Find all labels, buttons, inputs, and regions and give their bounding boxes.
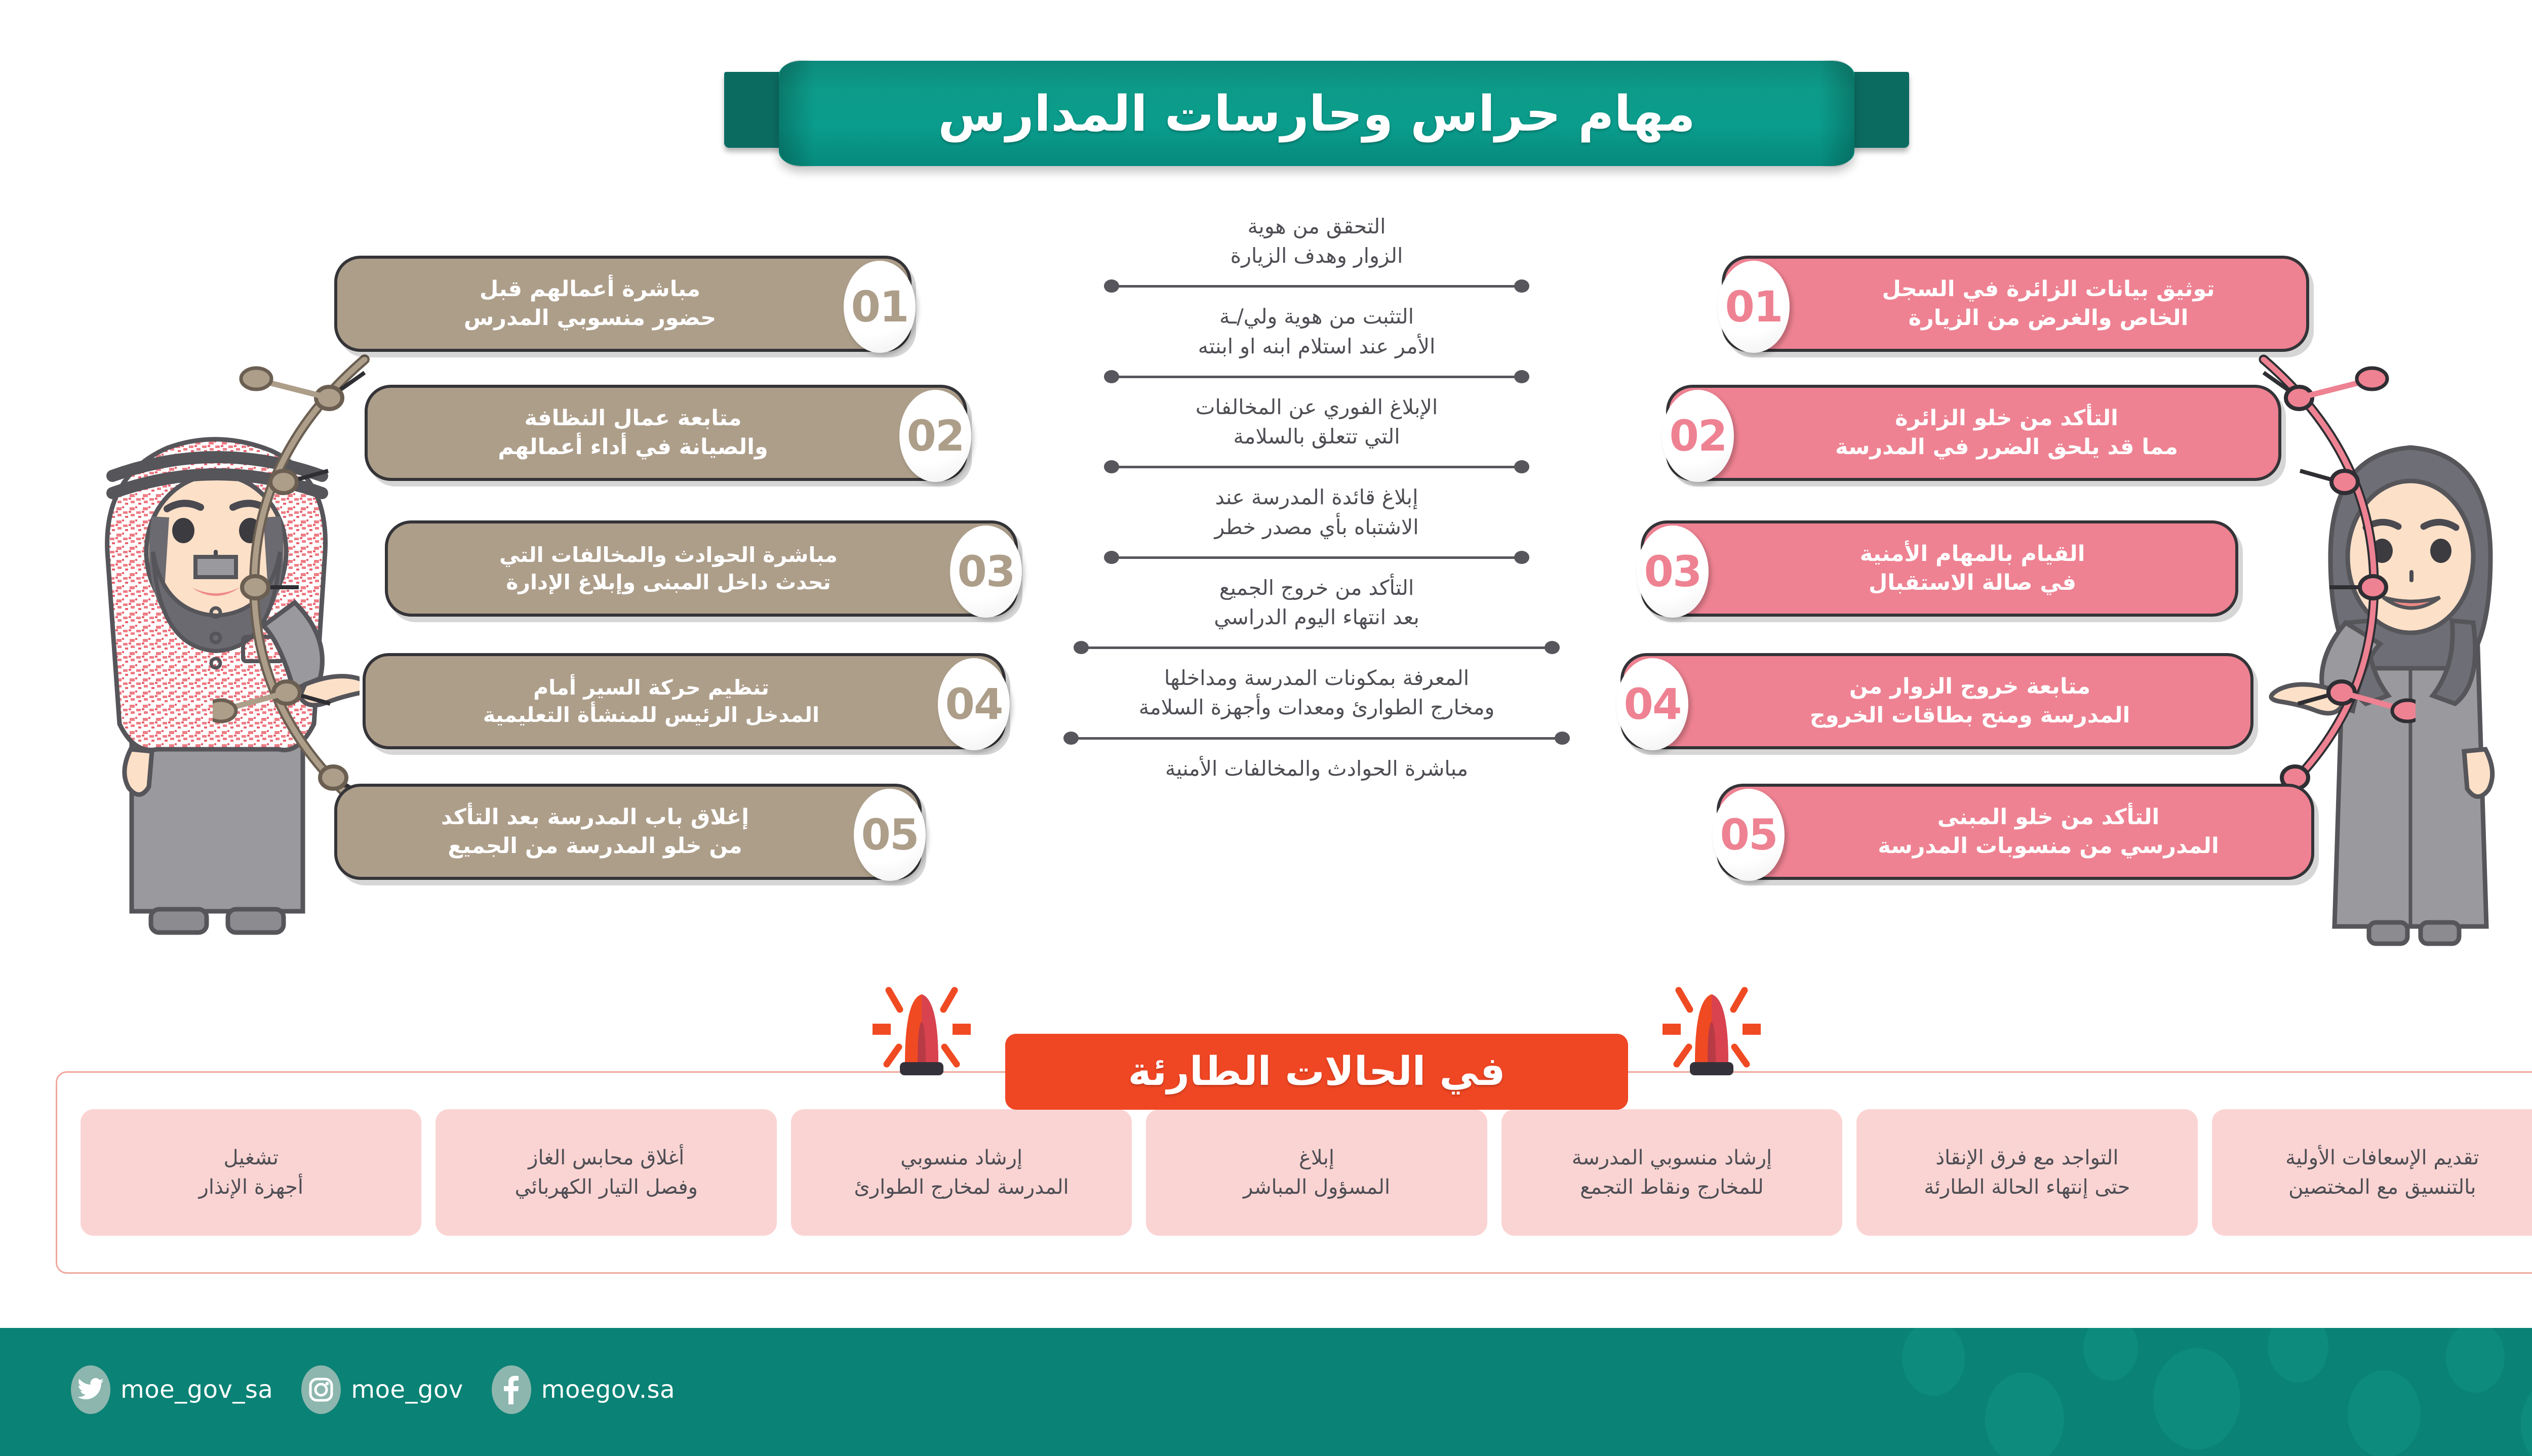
ribbon-body: مهام حراس وحارسات المدارس xyxy=(779,61,1854,166)
left-task-4-text: تنظيم حركة السير أمام المدخل الرئيس للمن… xyxy=(366,674,937,729)
right-task-4[interactable]: 04 متابعة خروج الزوار من المدرسة ومنح بط… xyxy=(1620,653,2253,749)
social-links: moegov.sa moe_gov moe_gov_sa xyxy=(71,1365,675,1414)
center-task-3: الإبلاغ الفوري عن المخالفات التي تتعلق ب… xyxy=(1033,388,1600,456)
center-task-6: المعرفة بمكونات المدرسة ومداخلها ومخارج … xyxy=(1033,659,1600,727)
center-task-1: التحقق من هوية الزوار وهدف الزيارة xyxy=(1033,208,1600,275)
left-task-5[interactable]: 05 إغلاق باب المدرسة بعد التأكد من خلو ا… xyxy=(334,784,922,880)
siren-light-icon-right xyxy=(1658,981,1765,1077)
left-task-2-number: 02 xyxy=(899,390,971,482)
left-task-2[interactable]: 02 متابعة عمال النظافة والصيانة في أداء … xyxy=(365,385,967,481)
facebook-icon xyxy=(492,1365,531,1414)
center-divider-5 xyxy=(1074,645,1560,650)
left-task-3[interactable]: 03 مباشرة الحوادث والمخالفات التي تحدث د… xyxy=(385,520,1018,617)
right-task-3-text: القيام بالمهام الأمنية في صالة الاستقبال xyxy=(1710,540,2235,597)
social-link-instagram[interactable]: moe_gov xyxy=(301,1365,463,1414)
right-task-5[interactable]: 05 التأكد من خلو المبنى المدرسي من منسوب… xyxy=(1717,784,2314,880)
left-task-4-number: 04 xyxy=(938,658,1010,750)
right-task-4-text: متابعة خروج الزوار من المدرسة ومنح بطاقا… xyxy=(1689,672,2250,730)
page-title: مهام حراس وحارسات المدارس xyxy=(938,85,1695,142)
right-task-1-text: توثيق بيانات الزائرة في السجل الخاص والغ… xyxy=(1791,275,2306,333)
left-task-1-number: 01 xyxy=(844,261,916,353)
emergency-card-1[interactable]: تقديم الإسعافات الأولية بالتنسيق مع المخ… xyxy=(2212,1109,2532,1236)
left-task-3-text: مباشرة الحوادث والمخالفات التي تحدث داخل… xyxy=(388,541,949,596)
center-divider-3 xyxy=(1104,464,1529,469)
twitter-icon xyxy=(71,1365,110,1414)
center-divider-6 xyxy=(1063,736,1570,741)
facebook-handle: moegov.sa xyxy=(541,1376,675,1404)
instagram-handle: moe_gov xyxy=(351,1376,463,1404)
social-link-twitter[interactable]: moe_gov_sa xyxy=(71,1365,273,1414)
center-divider-2 xyxy=(1104,374,1529,379)
right-task-5-number: 05 xyxy=(1713,789,1785,881)
right-task-5-text: التأكد من خلو المبنى المدرسي من منسوبات … xyxy=(1786,803,2311,861)
emergency-card-7[interactable]: تشغيل أجهزة الإنذار xyxy=(81,1109,421,1236)
right-task-4-number: 04 xyxy=(1616,658,1688,750)
center-task-2: التثبت من هوية ولي/ـة الأمر عند استلام ا… xyxy=(1033,298,1600,366)
emergency-card-5[interactable]: إرشاد منسوبي المدرسة لمخارج الطوارئ xyxy=(791,1109,1132,1236)
center-divider-4 xyxy=(1104,555,1529,560)
left-task-1-text: مباشرة أعمالهم قبل حضور منسوبي المدرس xyxy=(337,275,843,333)
left-task-5-number: 05 xyxy=(854,789,926,881)
siren-light-icon-left xyxy=(868,981,975,1077)
emergency-card-4[interactable]: إبلاغ المسؤول المباشر xyxy=(1146,1109,1487,1236)
center-divider-1 xyxy=(1104,284,1529,289)
footer: moegov.sa moe_gov moe_gov_sa xyxy=(0,1328,2532,1456)
emergency-card-6[interactable]: أغلاق محابس الغاز وفصل التيار الكهربائي xyxy=(436,1109,776,1236)
left-task-3-number: 03 xyxy=(950,525,1022,618)
right-task-1-number: 01 xyxy=(1718,261,1790,353)
left-task-5-text: إغلاق باب المدرسة بعد التأكد من خلو المد… xyxy=(337,803,853,861)
social-link-facebook[interactable]: moegov.sa xyxy=(492,1365,675,1414)
emergency-banner-text: في الحالات الطارئة xyxy=(1128,1049,1505,1095)
emergency-card-3[interactable]: إرشاد منسوبي المدرسة للمخارج ونقاط التجم… xyxy=(1501,1109,1842,1236)
right-task-2[interactable]: 02 التأكد من خلو الزائرة مما قد يلحق الض… xyxy=(1666,385,2281,481)
twitter-handle: moe_gov_sa xyxy=(121,1376,273,1404)
right-task-3[interactable]: 03 القيام بالمهام الأمنية في صالة الاستق… xyxy=(1641,520,2238,617)
right-task-2-number: 02 xyxy=(1662,390,1734,482)
footer-decoration xyxy=(1873,1328,2532,1456)
title-ribbon: مهام حراس وحارسات المدارس xyxy=(724,61,1909,177)
left-task-1[interactable]: 01 مباشرة أعمالهم قبل حضور منسوبي المدرس xyxy=(334,256,912,352)
left-task-4[interactable]: 04 تنظيم حركة السير أمام المدخل الرئيس ل… xyxy=(363,653,1006,749)
center-task-list: التحقق من هوية الزوار وهدف الزيارة التثب… xyxy=(1033,208,1600,788)
right-task-3-number: 03 xyxy=(1637,525,1709,618)
emergency-card-2[interactable]: التواجد مع فرق الإنقاذ حتى إنتهاء الحالة… xyxy=(1856,1109,2197,1236)
center-task-5: التأكد من خروج الجميع بعد انتهاء اليوم ا… xyxy=(1033,569,1600,637)
emergency-banner: في الحالات الطارئة xyxy=(1005,1034,1628,1110)
right-task-2-text: التأكد من خلو الزائرة مما قد يلحق الضرر … xyxy=(1735,404,2278,462)
right-task-1[interactable]: 01 توثيق بيانات الزائرة في السجل الخاص و… xyxy=(1722,256,2309,352)
left-task-2-text: متابعة عمال النظافة والصيانة في أداء أعم… xyxy=(368,404,898,462)
center-task-4: إبلاغ قائدة المدرسة عند الاشتباه بأي مصد… xyxy=(1033,478,1600,546)
instagram-icon xyxy=(301,1365,341,1414)
center-task-7: مباشرة الحوادث والمخالفات الأمنية xyxy=(1033,750,1600,788)
